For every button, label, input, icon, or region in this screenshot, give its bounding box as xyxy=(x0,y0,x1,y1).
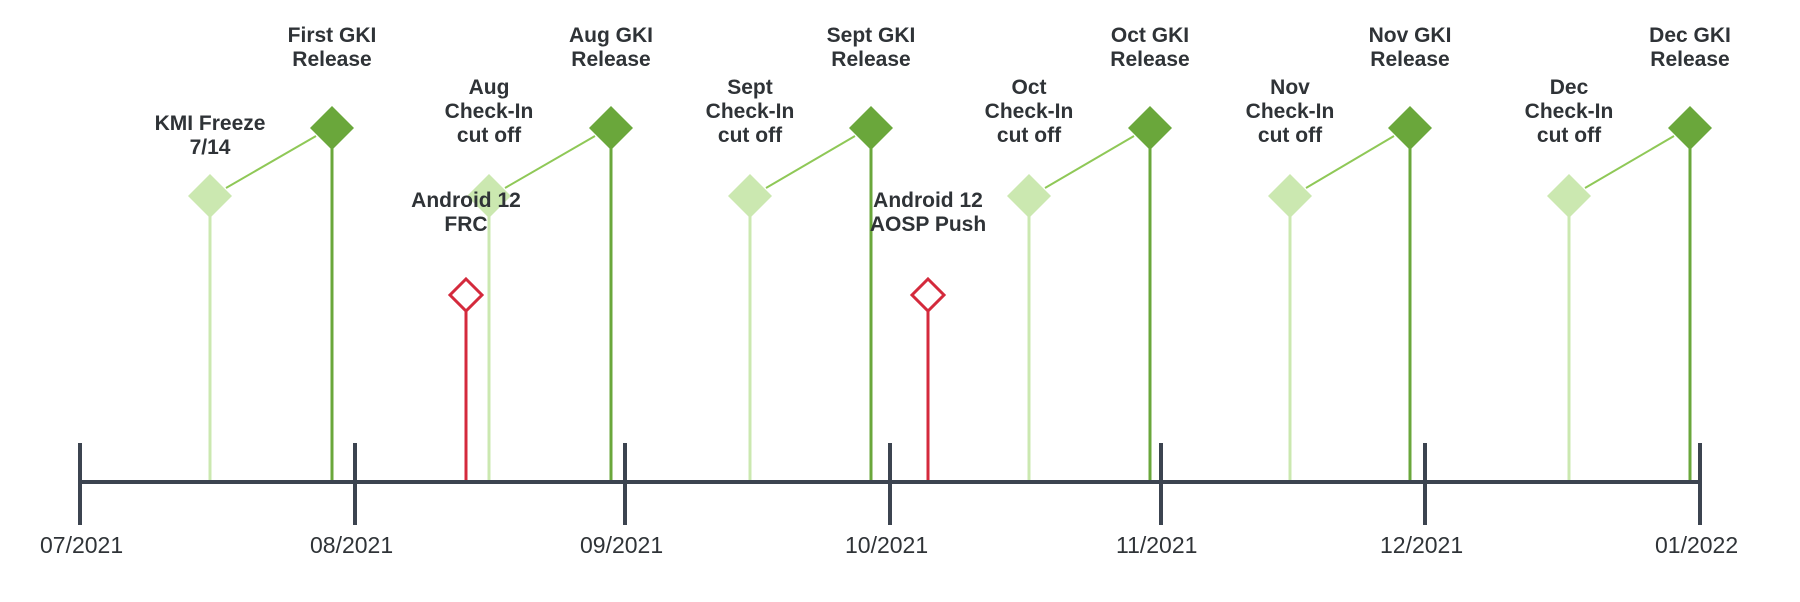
timeline-chart: KMI Freeze 7/14First GKI ReleaseAndroid … xyxy=(0,0,1800,602)
axis-tick-label: 07/2021 xyxy=(40,534,123,557)
milestone-marker-android12-frc-diamond-icon[interactable] xyxy=(450,279,482,311)
axis-tick-label: 09/2021 xyxy=(580,534,663,557)
milestone-marker-oct-checkin-diamond-icon[interactable] xyxy=(1007,174,1051,218)
milestone-label-oct-checkin: Oct Check-In cut off xyxy=(985,76,1074,148)
milestone-label-aug-gki: Aug GKI Release xyxy=(569,24,653,72)
milestone-label-nov-gki: Nov GKI Release xyxy=(1369,24,1452,72)
axis-tick-label: 10/2021 xyxy=(845,534,928,557)
axis-tick-label: 01/2022 xyxy=(1655,534,1738,557)
milestone-label-sept-gki: Sept GKI Release xyxy=(827,24,916,72)
milestone-label-dec-checkin: Dec Check-In cut off xyxy=(1525,76,1614,148)
milestone-marker-oct-gki-diamond-icon[interactable] xyxy=(1128,106,1172,150)
milestone-label-dec-gki: Dec GKI Release xyxy=(1649,24,1731,72)
milestone-label-sept-checkin: Sept Check-In cut off xyxy=(706,76,795,148)
axis-group xyxy=(80,443,1700,525)
milestone-marker-first-gki-diamond-icon[interactable] xyxy=(310,106,354,150)
milestone-marker-sept-gki-diamond-icon[interactable] xyxy=(849,106,893,150)
milestone-label-android12-aosp-push: Android 12 AOSP Push xyxy=(870,189,986,237)
milestone-label-aug-checkin: Aug Check-In cut off xyxy=(445,76,534,148)
axis-tick-label: 12/2021 xyxy=(1380,534,1463,557)
milestone-marker-aug-gki-diamond-icon[interactable] xyxy=(589,106,633,150)
milestone-label-kmi-freeze: KMI Freeze 7/14 xyxy=(155,112,266,160)
milestone-marker-nov-gki-diamond-icon[interactable] xyxy=(1388,106,1432,150)
connector-lines-group xyxy=(226,136,1674,188)
milestone-marker-nov-checkin-diamond-icon[interactable] xyxy=(1268,174,1312,218)
milestone-label-oct-gki: Oct GKI Release xyxy=(1110,24,1189,72)
milestone-label-first-gki: First GKI Release xyxy=(288,24,377,72)
milestone-label-android12-frc: Android 12 FRC xyxy=(411,189,521,237)
milestone-marker-sept-checkin-diamond-icon[interactable] xyxy=(728,174,772,218)
milestone-marker-android12-aosp-push-diamond-icon[interactable] xyxy=(912,279,944,311)
milestone-marker-dec-gki-diamond-icon[interactable] xyxy=(1668,106,1712,150)
milestone-marker-kmi-freeze-diamond-icon[interactable] xyxy=(188,174,232,218)
milestone-label-nov-checkin: Nov Check-In cut off xyxy=(1246,76,1335,148)
milestone-marker-dec-checkin-diamond-icon[interactable] xyxy=(1547,174,1591,218)
axis-tick-label: 08/2021 xyxy=(310,534,393,557)
axis-tick-label: 11/2021 xyxy=(1116,534,1197,557)
